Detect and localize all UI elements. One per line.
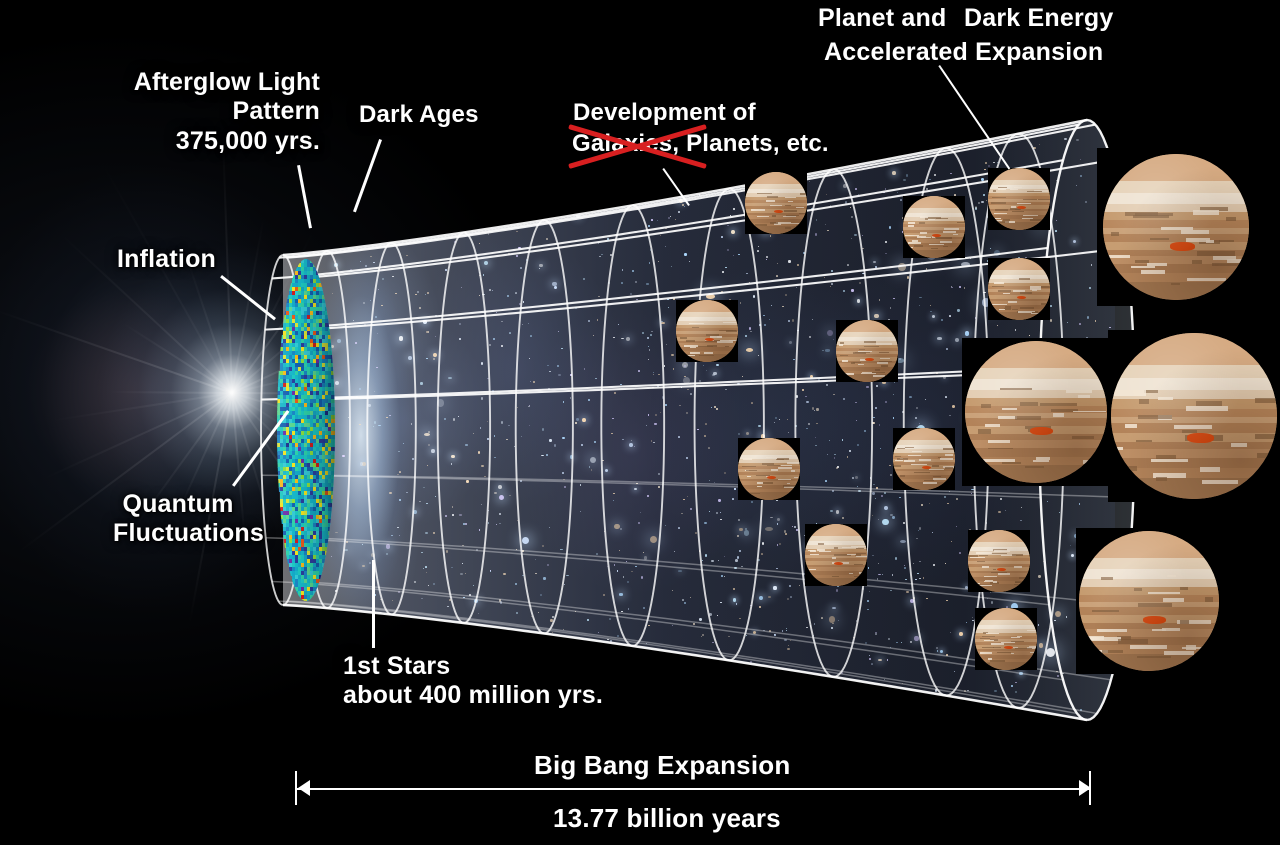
- jupiter-planet-icon: [893, 428, 955, 490]
- figure-canvas: Afterglow Light Pattern 375,000 yrs. Dar…: [0, 0, 1280, 845]
- jupiter-planet-icon: [975, 608, 1037, 670]
- jupiter-planet-icon: [903, 196, 965, 258]
- cmb-afterglow-disc: [277, 259, 335, 601]
- label-quantum-fluctuations: Quantum Fluctuations: [113, 490, 243, 549]
- jupiter-planet-icon: [1108, 330, 1280, 502]
- label-total-duration: 13.77 billion years: [553, 803, 781, 833]
- measure-arrow-left: [298, 780, 310, 796]
- jupiter-planet-icon: [988, 168, 1050, 230]
- jupiter-planet-icon: [1097, 148, 1255, 306]
- jupiter-planet-icon: [968, 530, 1030, 592]
- jupiter-planet-icon: [805, 524, 867, 586]
- label-afterglow-light-pattern: Afterglow Light Pattern 375,000 yrs.: [110, 68, 320, 156]
- jupiter-planet-icon: [738, 438, 800, 500]
- label-accelerated-expansion: Accelerated Expansion: [824, 38, 1103, 67]
- label-big-bang-expansion: Big Bang Expansion: [534, 750, 790, 780]
- label-dark-energy: Dark Energy: [964, 4, 1114, 33]
- jupiter-planet-icon: [676, 300, 738, 362]
- label-first-stars: 1st Stars about 400 million yrs.: [343, 652, 603, 711]
- jupiter-planet-icon: [745, 172, 807, 234]
- measure-line: [295, 788, 1090, 790]
- red-strikeout-x-icon: [569, 126, 706, 166]
- jupiter-planet-icon: [962, 338, 1110, 486]
- label-dark-ages: Dark Ages: [359, 101, 479, 129]
- leader-line: [372, 560, 375, 648]
- jupiter-planet-icon: [988, 258, 1050, 320]
- label-inflation: Inflation: [117, 245, 216, 274]
- jupiter-planet-icon: [836, 320, 898, 382]
- label-planet-and: Planet and: [818, 4, 946, 33]
- jupiter-planet-icon: [1076, 528, 1222, 674]
- label-development-of: Development of: [573, 99, 756, 127]
- measure-arrow-right: [1079, 780, 1091, 796]
